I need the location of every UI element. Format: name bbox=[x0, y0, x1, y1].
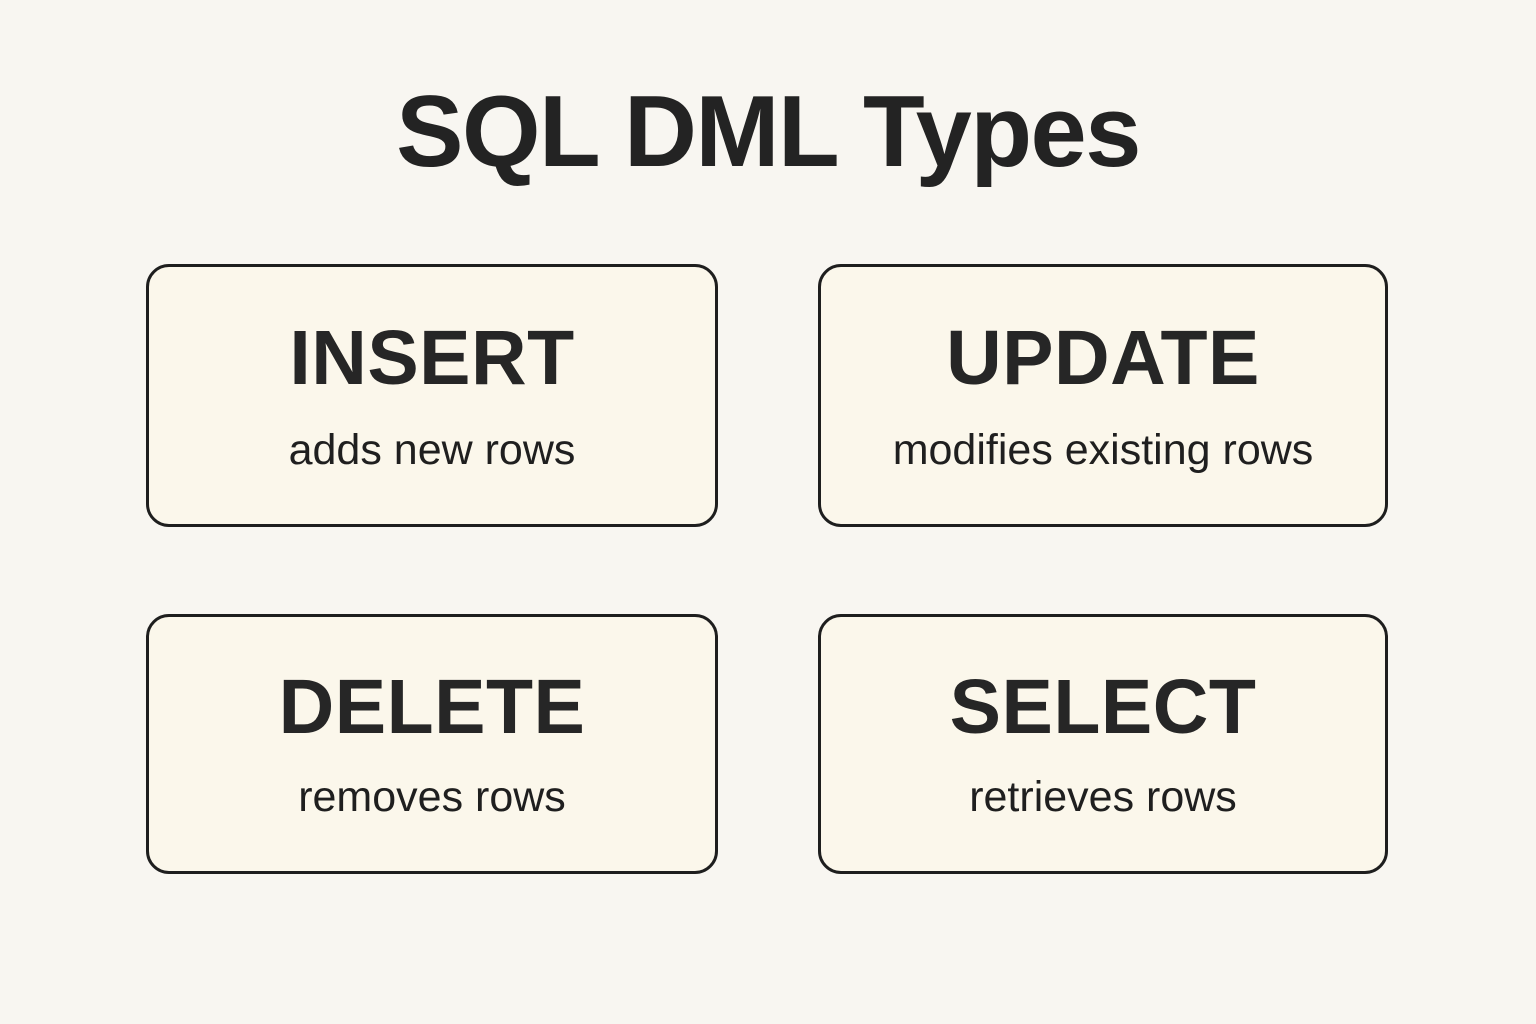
diagram-canvas: SQL DML Types INSERT adds new rows UPDAT… bbox=[0, 0, 1536, 1024]
card-delete-description: removes rows bbox=[298, 776, 566, 819]
card-update[interactable]: UPDATE modifies existing rows bbox=[818, 264, 1388, 527]
page-title: SQL DML Types bbox=[0, 78, 1536, 187]
card-delete-keyword: DELETE bbox=[279, 669, 586, 746]
card-insert[interactable]: INSERT adds new rows bbox=[146, 264, 718, 527]
dml-card-grid: INSERT adds new rows UPDATE modifies exi… bbox=[146, 264, 1388, 874]
card-update-keyword: UPDATE bbox=[946, 320, 1260, 397]
card-select-description: retrieves rows bbox=[969, 776, 1237, 819]
card-insert-keyword: INSERT bbox=[289, 320, 574, 397]
card-select[interactable]: SELECT retrieves rows bbox=[818, 614, 1388, 874]
card-select-keyword: SELECT bbox=[950, 669, 1257, 746]
card-insert-description: adds new rows bbox=[289, 429, 576, 472]
card-delete[interactable]: DELETE removes rows bbox=[146, 614, 718, 874]
card-update-description: modifies existing rows bbox=[893, 429, 1314, 472]
